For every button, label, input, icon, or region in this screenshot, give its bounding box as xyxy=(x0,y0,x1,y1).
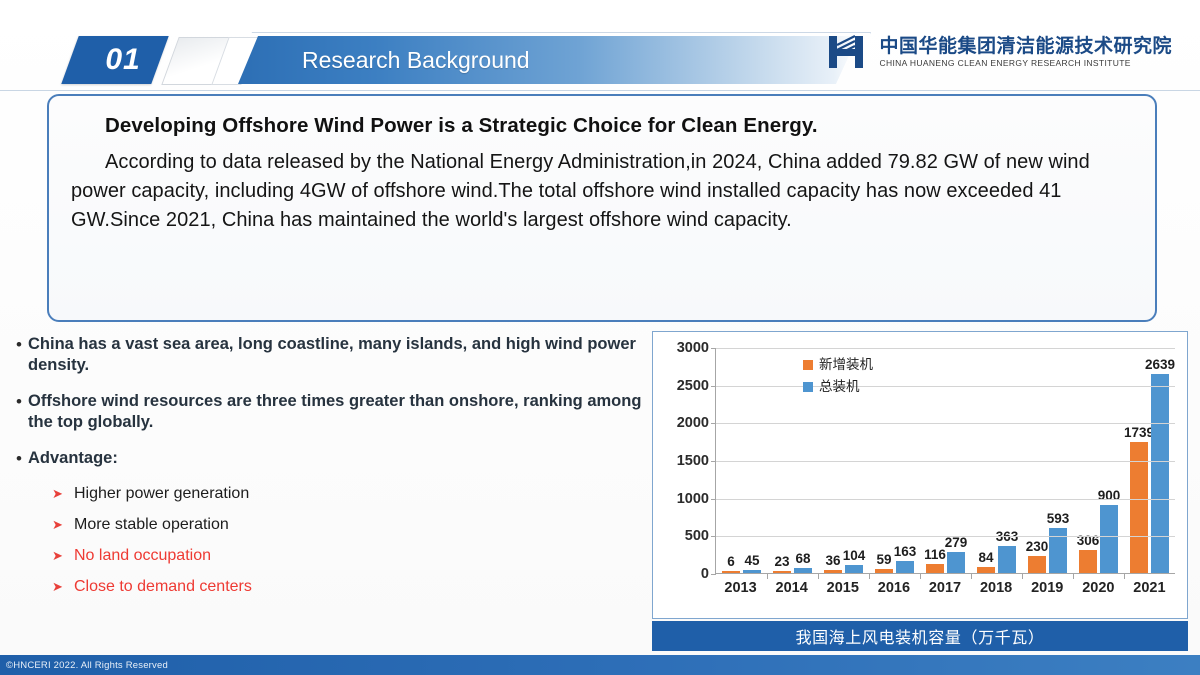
chart-bar: 230 xyxy=(1028,556,1046,573)
sub-list-item: ➤ Close to demand centers xyxy=(52,577,646,597)
slide-footer: ©HNCERI 2022. All Rights Reserved xyxy=(0,655,1200,675)
bullet-text: China has a vast sea area, long coastlin… xyxy=(28,334,646,377)
chart-data-label: 306 xyxy=(1077,533,1100,548)
sub-list-item: ➤ More stable operation xyxy=(52,515,646,535)
chart-gridline xyxy=(716,461,1175,462)
chart-category-separator xyxy=(869,573,870,579)
sub-bullet-text: More stable operation xyxy=(74,515,229,535)
chart-data-label: 900 xyxy=(1098,488,1121,503)
chart-bar: 84 xyxy=(977,567,995,573)
chart-bar: 104 xyxy=(845,565,863,573)
arrow-right-icon: ➤ xyxy=(52,549,74,562)
chart-gridline xyxy=(716,386,1175,387)
sub-list-item: ➤ No land occupation xyxy=(52,546,646,566)
page-title: Research Background xyxy=(302,36,530,84)
chart-category-separator xyxy=(1022,573,1023,579)
section-banner: 01 Research Background xyxy=(70,36,860,84)
bullet-text: Advantage: xyxy=(28,448,646,469)
sub-list-item: ➤ Higher power generation xyxy=(52,484,646,504)
chart-x-tick-label: 2021 xyxy=(1124,580,1175,604)
chart-bar: 23 xyxy=(773,571,791,573)
chart-data-label: 84 xyxy=(978,550,993,565)
chart-category-separator xyxy=(971,573,972,579)
chart-data-label: 6 xyxy=(727,554,735,569)
chart-gridline xyxy=(716,348,1175,349)
chart-data-label: 2639 xyxy=(1145,357,1175,372)
bullet-dot-icon: • xyxy=(10,334,28,356)
chart-x-tick-label: 2016 xyxy=(868,580,919,604)
chart-y-tick-label: 1000 xyxy=(653,491,715,507)
bullet-dot-icon: • xyxy=(10,391,28,413)
list-item: • China has a vast sea area, long coastl… xyxy=(10,334,646,377)
callout-body: According to data released by the Nation… xyxy=(71,148,1135,234)
chart-category-separator xyxy=(767,573,768,579)
chart-bar: 900 xyxy=(1100,505,1118,573)
chart-bar: 68 xyxy=(794,568,812,573)
logo-text: 中国华能集团清洁能源技术研究院 CHINA HUANENG CLEAN ENER… xyxy=(879,36,1172,68)
chart-data-label: 1739 xyxy=(1124,425,1154,440)
institute-logo: 中国华能集团清洁能源技术研究院 CHINA HUANENG CLEAN ENER… xyxy=(825,30,1172,74)
chart-bar: 116 xyxy=(926,564,944,573)
chart-data-label: 45 xyxy=(744,553,759,568)
chart-bar: 363 xyxy=(998,546,1016,573)
chart-y-tick-label: 3000 xyxy=(653,340,715,356)
chart-y-tick-label: 2500 xyxy=(653,378,715,394)
chart-x-tick-label: 2013 xyxy=(715,580,766,604)
chart-bar: 45 xyxy=(743,570,761,573)
huaneng-h-logo-icon xyxy=(825,30,869,74)
sub-bullet-text: Close to demand centers xyxy=(74,577,252,597)
chart-y-tick-label: 2000 xyxy=(653,415,715,431)
chart-bar: 306 xyxy=(1079,550,1097,573)
chart-gridline xyxy=(716,536,1175,537)
bullet-list: • China has a vast sea area, long coastl… xyxy=(10,334,646,608)
chart-legend-swatch xyxy=(803,360,813,370)
chart-area: 6452368361045916311627984363230593306900… xyxy=(653,332,1187,618)
list-item: • Offshore wind resources are three time… xyxy=(10,391,646,434)
chart-bar: 6 xyxy=(722,571,740,573)
chart-data-label: 163 xyxy=(894,544,917,559)
chart-x-axis: 201320142015201620172018201920202021 xyxy=(715,580,1175,604)
chart-category-separator xyxy=(1073,573,1074,579)
logo-name-en: CHINA HUANENG CLEAN ENERGY RESEARCH INST… xyxy=(879,58,1172,68)
chart-legend: 新增装机总装机 xyxy=(803,354,873,399)
chart-bar: 593 xyxy=(1049,528,1067,573)
arrow-right-icon: ➤ xyxy=(52,487,74,500)
bullet-dot-icon: • xyxy=(10,448,28,470)
chart-legend-label: 总装机 xyxy=(819,376,860,398)
chart-bar: 279 xyxy=(947,552,965,573)
chart-bar: 2639 xyxy=(1151,374,1169,573)
chart-y-tick-label: 500 xyxy=(653,528,715,544)
chart-category-separator xyxy=(920,573,921,579)
chart-plot-area: 6452368361045916311627984363230593306900… xyxy=(715,348,1175,574)
sub-bullet-text: No land occupation xyxy=(74,546,211,566)
chart-bar: 59 xyxy=(875,569,893,573)
logo-name-cn: 中国华能集团清洁能源技术研究院 xyxy=(879,36,1172,58)
section-number-label: 01 xyxy=(78,36,168,84)
chart-data-label: 36 xyxy=(825,553,840,568)
chart-x-tick-label: 2014 xyxy=(766,580,817,604)
chart-legend-swatch xyxy=(803,382,813,392)
chart-y-tick-label: 0 xyxy=(653,566,715,582)
chart-legend-label: 新增装机 xyxy=(819,354,873,376)
chart-legend-item: 总装机 xyxy=(803,376,873,398)
bullet-text: Offshore wind resources are three times … xyxy=(28,391,646,434)
list-item: • Advantage: xyxy=(10,448,646,470)
chart-x-tick-label: 2015 xyxy=(817,580,868,604)
chart-bar: 163 xyxy=(896,561,914,573)
chart-data-label: 68 xyxy=(795,551,810,566)
chart-caption: 我国海上风电装机容量（万千瓦） xyxy=(652,621,1188,651)
chart-category-separator xyxy=(1124,573,1125,579)
chart-data-label: 23 xyxy=(774,554,789,569)
chart-gridline xyxy=(716,499,1175,500)
chart-legend-item: 新增装机 xyxy=(803,354,873,376)
chart-gridline xyxy=(716,423,1175,424)
slide-header: 01 Research Background xyxy=(0,0,1200,92)
chart-data-label: 593 xyxy=(1047,511,1070,526)
chart-x-tick-label: 2018 xyxy=(971,580,1022,604)
chart-y-tick-label: 1500 xyxy=(653,453,715,469)
sub-bullet-text: Higher power generation xyxy=(74,484,249,504)
chart-x-tick-label: 2019 xyxy=(1022,580,1073,604)
chart-data-label: 116 xyxy=(924,547,946,562)
callout-title: Developing Offshore Wind Power is a Stra… xyxy=(105,114,1135,138)
chart-category-separator xyxy=(818,573,819,579)
arrow-right-icon: ➤ xyxy=(52,580,74,593)
chart-data-label: 230 xyxy=(1026,539,1049,554)
chart-bar: 36 xyxy=(824,570,842,573)
chart-data-label: 104 xyxy=(843,548,866,563)
callout-box: Developing Offshore Wind Power is a Stra… xyxy=(47,94,1157,322)
header-divider xyxy=(0,90,1200,91)
slide: 01 Research Background xyxy=(0,0,1200,675)
chart-data-label: 59 xyxy=(876,552,891,567)
chart-panel: 6452368361045916311627984363230593306900… xyxy=(652,331,1188,619)
chart-x-tick-label: 2020 xyxy=(1073,580,1124,604)
arrow-right-icon: ➤ xyxy=(52,518,74,531)
chart-x-tick-label: 2017 xyxy=(919,580,970,604)
copyright-text: ©HNCERI 2022. All Rights Reserved xyxy=(0,660,168,671)
